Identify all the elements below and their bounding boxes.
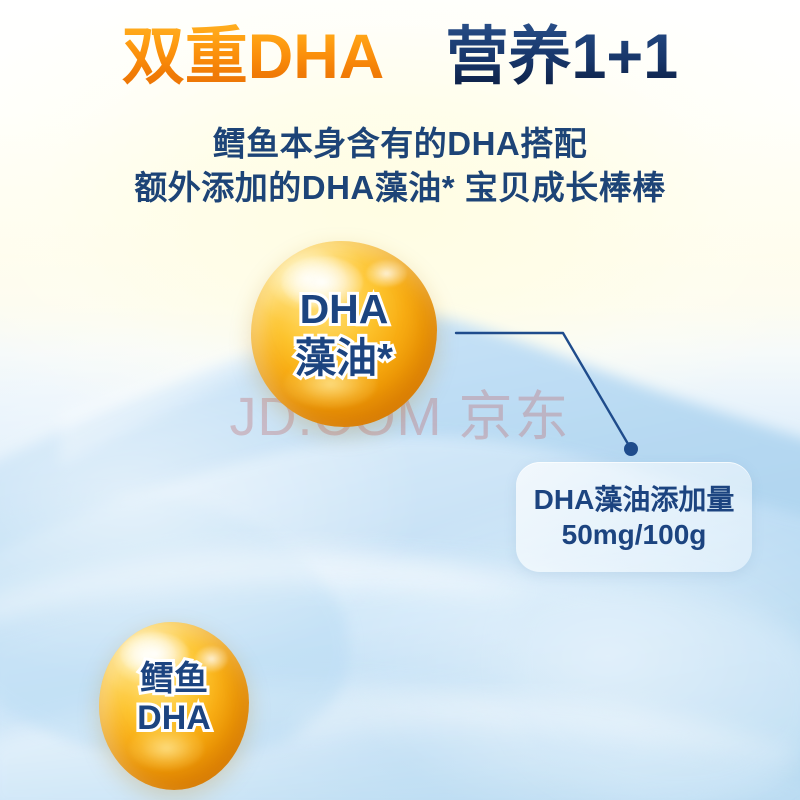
callout-line-1-fill: DHA藻油添加量 xyxy=(534,484,735,515)
droplet-cod-dha-line-1-fill: 鳕鱼 xyxy=(140,660,208,698)
watermark-chinese-text: 京东 xyxy=(458,387,570,447)
headline-navy-fill: 营养1+1 xyxy=(445,22,678,92)
droplet-cod-dha-line-2-fill: DHA xyxy=(137,699,211,737)
droplet-algae-oil-line-2: 藻油* 藻油* xyxy=(295,336,393,381)
droplet-cod-dha: 鳕鱼 鳕鱼 DHA DHA xyxy=(99,622,249,790)
subtitle-line-1: 鳕鱼本身含有的DHA搭配 鳕鱼本身含有的DHA搭配 xyxy=(0,122,800,166)
droplet-algae-oil-line-1-fill: DHA xyxy=(300,286,389,332)
subtitle-line-1-fill: 鳕鱼本身含有的DHA搭配 xyxy=(213,125,588,162)
subtitle-line-2-fill: 额外添加的DHA藻油* 宝贝成长棒棒 xyxy=(134,169,666,206)
headline-orange-part: 双重DHA 双重DHA xyxy=(122,26,385,89)
droplet-cod-dha-line-1: 鳕鱼 鳕鱼 xyxy=(137,661,211,698)
droplet-algae-oil-line-2-fill: 藻油* xyxy=(295,335,393,381)
droplet-cod-dha-label: 鳕鱼 鳕鱼 DHA DHA xyxy=(137,661,211,738)
subtitle-block: 鳕鱼本身含有的DHA搭配 鳕鱼本身含有的DHA搭配 额外添加的DHA藻油* 宝贝… xyxy=(0,122,800,210)
droplet-cod-dha-line-2: DHA DHA xyxy=(137,700,211,737)
callout-line-2: 50mg/100g 50mg/100g xyxy=(562,518,707,551)
droplet-algae-oil: DHA DHA 藻油* 藻油* xyxy=(251,241,437,427)
droplet-algae-oil-line-1: DHA DHA xyxy=(295,287,393,332)
headline-line: 双重DHA 双重DHA 营养1+1 营养1+1 xyxy=(0,26,800,89)
headline-orange-fill: 双重DHA xyxy=(122,22,385,92)
droplet-algae-oil-label: DHA DHA 藻油* 藻油* xyxy=(295,287,393,381)
callout-line-1: DHA藻油添加量 DHA藻油添加量 xyxy=(534,483,735,516)
headline-navy-part: 营养1+1 营养1+1 xyxy=(445,26,678,89)
product-marketing-poster: 双重DHA 双重DHA 营养1+1 营养1+1 鳕鱼本身含有的DHA搭配 鳕鱼本… xyxy=(0,0,800,800)
callout-line-2-fill: 50mg/100g xyxy=(562,519,707,550)
headline-title: 双重DHA 双重DHA 营养1+1 营养1+1 xyxy=(0,26,800,89)
subtitle-line-2: 额外添加的DHA藻油* 宝贝成长棒棒 额外添加的DHA藻油* 宝贝成长棒棒 xyxy=(0,166,800,210)
callout-algae-oil-amount: DHA藻油添加量 DHA藻油添加量 50mg/100g 50mg/100g xyxy=(516,462,752,572)
